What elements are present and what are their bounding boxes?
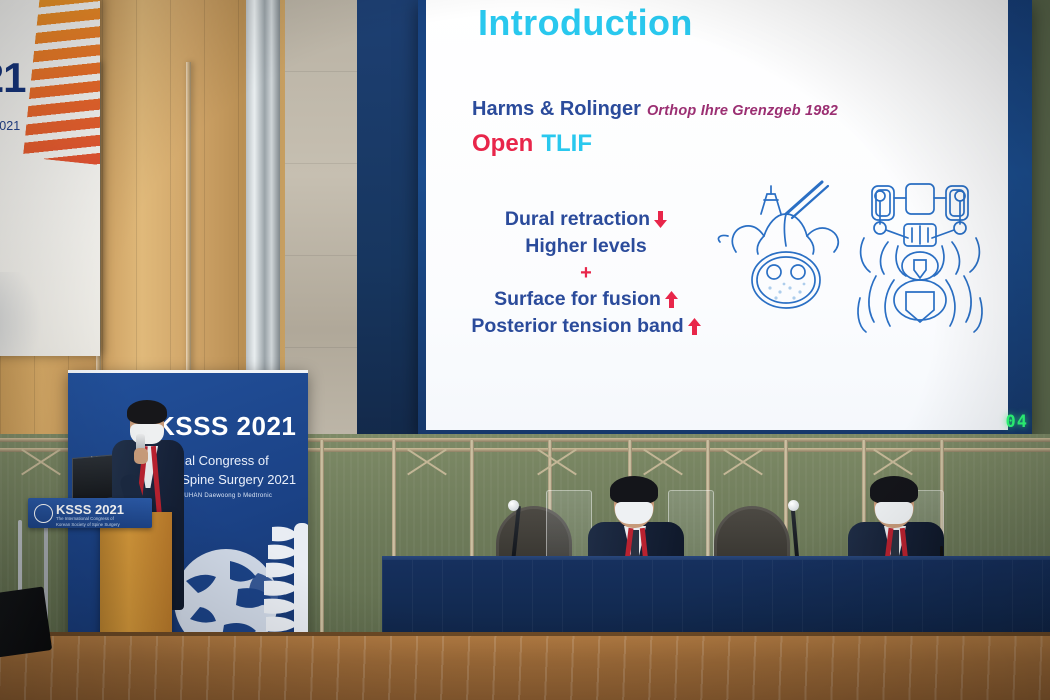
presentation-slide: Introduction Harms & RolingerOrthop Ihre… [426,0,1008,430]
face-mask-icon [875,502,913,524]
arrow-down-icon [654,211,667,228]
wall-x-brace-5 [870,446,916,476]
wall-x-brace-1 [404,446,450,476]
stage-floor [0,636,1050,700]
wall-x-brace-3 [640,446,686,476]
wall-mullion-1 [320,440,324,640]
speaker-hair [127,400,167,424]
bullet-posterior-tension-band: Posterior tension band [436,313,736,340]
face-mask-icon [615,502,653,524]
citation-author: Harms & Rolinger [472,98,641,120]
podium-sign: KSSS 2021 The International Congress of … [28,498,152,528]
glass-fin-2 [186,62,191,392]
slide-procedure: OpenTLIF [472,130,592,158]
pedicle-screw-figure [858,184,982,332]
citation-journal: Orthop Ihre Grenzgeb 1982 [647,103,838,119]
axial-vertebra-figure [718,182,838,308]
podium-sign-subtitle-line-2: Korean Society of Spine Surgery [56,522,120,528]
slide-title: Introduction [478,2,693,44]
podium-sign-subtitle: The International Congress of Korean Soc… [56,516,120,528]
navy-wall-section [357,0,419,440]
arrow-up-icon [688,318,701,335]
wall-x-brace-4 [720,446,766,476]
bullet-label: Surface for fusion [494,288,661,310]
panelist-hair [610,476,658,504]
countdown-timer: 04 [1006,412,1028,432]
banner-subtitle-line-2: pine Surgery 2021 [0,118,20,135]
wall-x-brace-2 [534,446,580,476]
bullet-label: Posterior tension band [471,315,683,337]
kss-backdrop-sponsors: A ST YUHAN Daewoong b Medtronic [164,493,308,499]
table-microphone-head-2 [788,500,799,511]
projection-screen: Introduction Harms & RolingerOrthop Ihre… [418,0,1032,434]
wall-x-brace-6 [18,446,64,476]
bullet-label: Dural retraction [505,208,650,230]
congress-standing-banner: 2021 ongress of pine Surgery 2021 29, 20… [0,0,100,356]
banner-subtitle-line-1: ongress of [0,101,20,118]
podium-sign-title: KSSS 2021 [56,502,124,517]
table-microphone-head-1 [508,500,519,511]
slide-bullet-list: Dural retraction Higher levels + Surface… [436,206,736,340]
kss-emblem-icon [34,504,53,523]
spine-graphic-icon [23,0,100,166]
kss-subtitle-line-2: f Spine Surgery 2021 [174,470,308,489]
bullet-dural-retraction: Dural retraction [436,206,736,233]
floor-monitor-speaker [0,586,52,657]
bullet-surface-for-fusion: Surface for fusion [436,286,736,313]
bullet-higher-levels: Higher levels [436,233,736,260]
slide-citation: Harms & RolingerOrthop Ihre Grenzgeb 198… [472,98,838,121]
banner-subtitle: ongress of pine Surgery 2021 [0,101,20,135]
procedure-prefix: Open [472,130,533,157]
conference-hall-photo: 2021 ongress of pine Surgery 2021 29, 20… [0,0,1050,700]
spine-illustrations-svg [714,180,994,356]
plus-sign: + [436,260,736,286]
panelist-hair [870,476,918,504]
banner-year: 2021 [0,54,25,102]
slide-figures [714,180,994,356]
speaker-hand [134,448,148,464]
procedure-term: TLIF [541,130,592,157]
banner-globe-watermark [0,272,60,356]
arrow-up-icon [665,291,678,308]
